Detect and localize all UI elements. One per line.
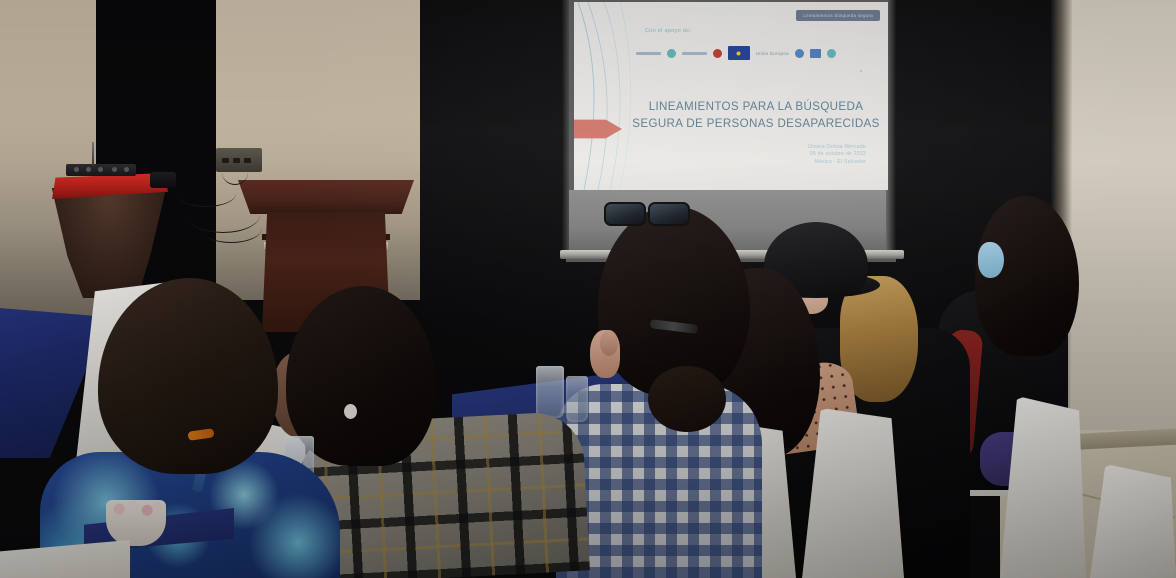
european-union-flag-logo-icon bbox=[728, 46, 749, 60]
wireless-antenna bbox=[92, 142, 94, 166]
projected-slide: Con el apoyo de: Unión Europea Lineamien… bbox=[574, 2, 888, 190]
slide-date: 05 de octubre de 2022 bbox=[808, 151, 866, 158]
partner-logo-4-icon bbox=[713, 49, 722, 58]
right-wall bbox=[1060, 0, 1176, 470]
candy-pieces bbox=[108, 498, 164, 520]
slide-header-badge: Lineamientos búsqueda segura bbox=[796, 10, 880, 21]
conference-room-scene: Con el apoyo de: Unión Europea Lineamien… bbox=[0, 0, 1176, 578]
slide-title-line-1: Lineamientos para la búsqueda bbox=[630, 98, 882, 115]
sunglasses-icon bbox=[604, 200, 690, 226]
partner-logo-5-icon bbox=[795, 49, 804, 58]
water-glass bbox=[566, 376, 588, 422]
partner-logo-7-icon bbox=[827, 49, 836, 58]
slide-location: México - El Salvador bbox=[808, 159, 866, 166]
audio-mixer bbox=[66, 164, 136, 176]
slide-cursor-dot bbox=[860, 70, 862, 72]
slide-author: Omara Ochoa Mercado bbox=[808, 144, 866, 151]
attendee-ear bbox=[600, 330, 618, 356]
napkin bbox=[0, 540, 130, 578]
slide-subtitle-block: Omara Ochoa Mercado 05 de octubre de 202… bbox=[808, 144, 866, 166]
partner-logo-2-icon bbox=[667, 49, 676, 58]
eu-logo-caption: Unión Europea bbox=[756, 51, 789, 56]
slide-support-label: Con el apoyo de: bbox=[645, 28, 691, 34]
power-cable bbox=[222, 160, 248, 185]
slide-title: Lineamientos para la búsqueda segura de … bbox=[630, 98, 882, 132]
partner-logo-3-icon bbox=[682, 52, 707, 55]
black-device-box bbox=[150, 172, 176, 188]
partner-logo-1-icon bbox=[636, 52, 661, 55]
screen-left-edge bbox=[562, 0, 569, 256]
power-cable bbox=[200, 214, 262, 243]
slide-title-line-2: segura de personas desaparecidas bbox=[630, 115, 882, 132]
water-glass bbox=[536, 366, 564, 418]
earring bbox=[344, 404, 357, 419]
podium-top-surface bbox=[238, 180, 414, 214]
partner-logo-6-icon bbox=[810, 49, 822, 58]
face-mask bbox=[978, 242, 1004, 278]
attendee-hair-bun bbox=[648, 366, 726, 432]
slide-partner-logos: Unión Europea bbox=[636, 42, 836, 64]
